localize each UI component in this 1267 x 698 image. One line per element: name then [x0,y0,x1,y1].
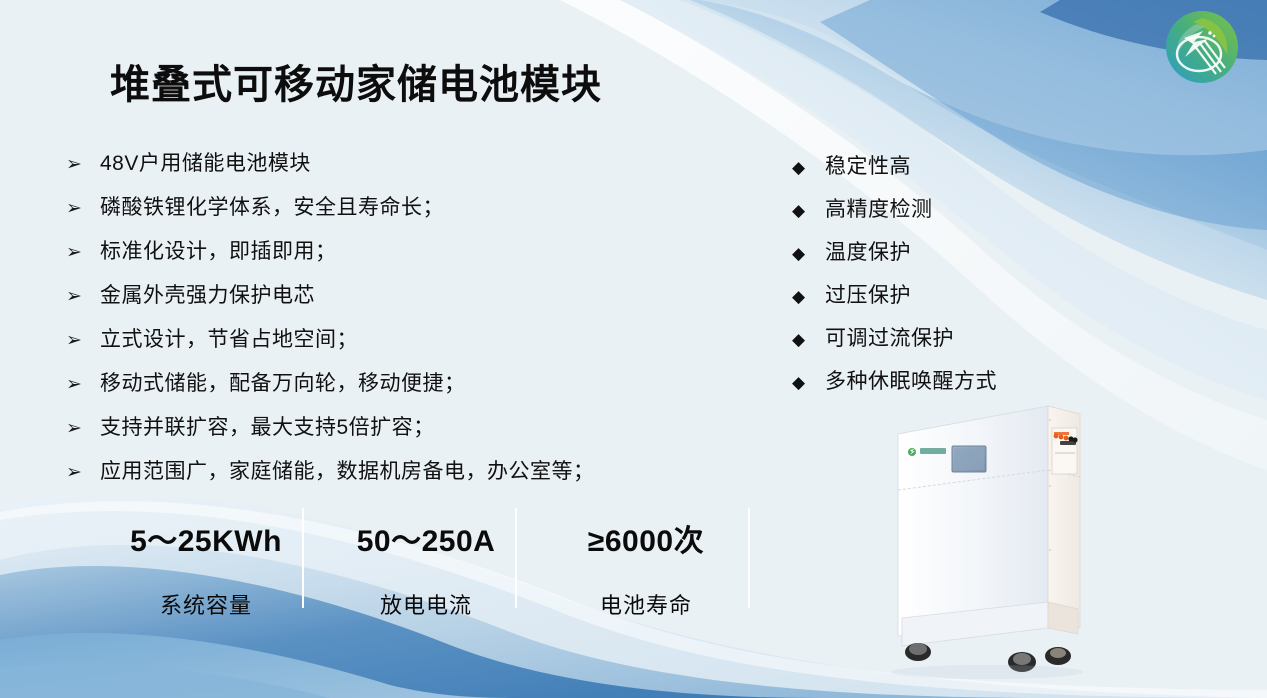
list-item-label: 磷酸铁锂化学体系，安全且寿命长； [100,191,444,221]
list-item-label: 金属外壳强力保护电芯 [100,279,315,309]
stat-value: 5～25KWh [130,516,282,560]
list-item: ➢ 支持并联扩容，最大支持5倍扩容； [66,411,706,455]
list-item: ◆ 温度保护 [792,236,1092,279]
left-feature-list: ➢ 48V户用储能电池模块 ➢ 磷酸铁锂化学体系，安全且寿命长； ➢ 标准化设计… [66,147,706,499]
list-item: ➢ 移动式储能，配备万向轮，移动便捷； [66,367,706,411]
list-item-label: 稳定性高 [825,150,911,180]
product-image [872,390,1172,690]
list-item: ◆ 可调过流保护 [792,322,1092,365]
arrow-bullet-icon: ➢ [66,155,100,174]
diamond-bullet-icon: ◆ [792,374,825,391]
slide-root: 堆叠式可移动家储电池模块 ➢ 48V户用储能电池模块 ➢ 磷酸铁锂化学体系，安全… [0,0,1267,698]
arrow-bullet-icon: ➢ [66,199,100,218]
list-item: ➢ 磷酸铁锂化学体系，安全且寿命长； [66,191,706,235]
diamond-bullet-icon: ◆ [792,331,825,348]
stat-value: 50～250A [357,516,496,560]
list-item: ➢ 标准化设计，即插即用； [66,235,706,279]
list-item-label: 温度保护 [825,236,911,266]
arrow-bullet-icon: ➢ [66,375,100,394]
stat-value: ≥6000次 [588,516,704,560]
list-item-label: 可调过流保护 [825,322,954,352]
company-logo [1163,8,1241,86]
list-item-label: 高精度检测 [825,193,933,223]
list-item: ➢ 应用范围广，家庭储能，数据机房备电，办公室等； [66,455,706,499]
stat-label: 放电电流 [380,588,472,620]
right-feature-list: ◆ 稳定性高 ◆ 高精度检测 ◆ 温度保护 ◆ 过压保护 ◆ 可调过流保护 ◆ … [792,150,1092,408]
battery-cabinet-illustration [872,390,1172,690]
stat-capacity: 5～25KWh 系统容量 [96,508,316,612]
diamond-bullet-icon: ◆ [792,288,825,305]
arrow-bullet-icon: ➢ [66,287,100,306]
arrow-bullet-icon: ➢ [66,243,100,262]
arrow-bullet-icon: ➢ [66,463,100,482]
list-item-label: 过压保护 [825,279,911,309]
diamond-bullet-icon: ◆ [792,245,825,262]
list-item-label: 48V户用储能电池模块 [100,147,311,177]
list-item: ➢ 金属外壳强力保护电芯 [66,279,706,323]
list-item-label: 立式设计，节省占地空间； [100,323,358,353]
arrow-bullet-icon: ➢ [66,331,100,350]
list-item: ➢ 立式设计，节省占地空间； [66,323,706,367]
list-item: ➢ 48V户用储能电池模块 [66,147,706,191]
stat-label: 系统容量 [160,588,252,620]
list-item: ◆ 过压保护 [792,279,1092,322]
logo-icon [1163,8,1241,86]
list-item: ◆ 高精度检测 [792,193,1092,236]
caster-wheel [1045,647,1071,665]
stat-cycle-life: ≥6000次 电池寿命 [536,508,756,612]
list-item-label: 应用范围广，家庭储能，数据机房备电，办公室等； [100,455,595,485]
diamond-bullet-icon: ◆ [792,202,825,219]
list-item: ◆ 稳定性高 [792,150,1092,193]
stat-label: 电池寿命 [600,588,692,620]
diamond-bullet-icon: ◆ [792,159,825,176]
spec-stats-strip: 5～25KWh 系统容量 50～250A 放电电流 ≥6000次 电池寿命 [96,508,756,612]
list-item-label: 支持并联扩容，最大支持5倍扩容； [100,411,435,441]
list-item-label: 标准化设计，即插即用； [100,235,337,265]
arrow-bullet-icon: ➢ [66,419,100,438]
page-title: 堆叠式可移动家储电池模块 [110,52,602,110]
list-item-label: 移动式储能，配备万向轮，移动便捷； [100,367,466,397]
caster-wheel [905,643,931,661]
stat-discharge-current: 50～250A 放电电流 [316,508,536,612]
